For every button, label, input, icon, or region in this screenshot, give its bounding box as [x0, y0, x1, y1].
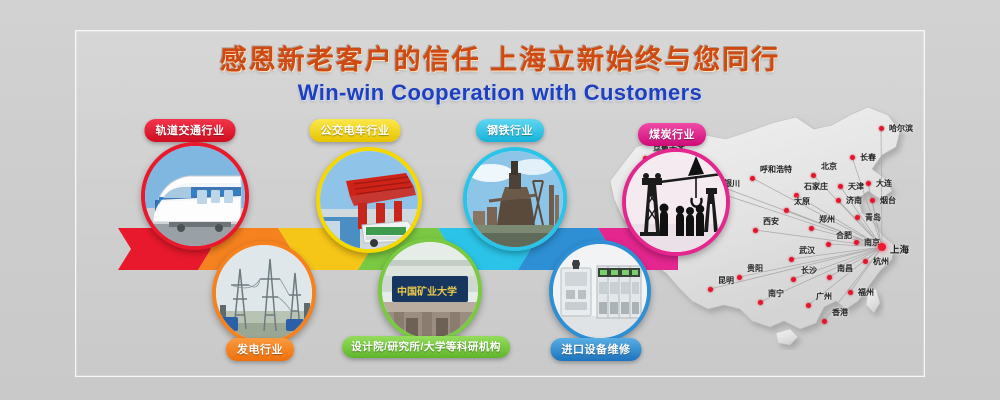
industry-image-coal[interactable] — [622, 148, 730, 256]
map-city-dot — [870, 198, 875, 203]
map-city-dot — [836, 198, 841, 203]
map-city-dot — [855, 215, 860, 220]
art-high-speed-train — [145, 146, 245, 246]
map-city-label: 济南 — [846, 195, 862, 206]
map-city-dot — [791, 277, 796, 282]
industry-image-research[interactable]: 中国矿业大学 — [378, 238, 482, 342]
industry-image-import[interactable] — [549, 240, 651, 342]
map-city-dot — [866, 181, 871, 186]
map-city-dot — [827, 275, 832, 280]
map-city-label: 杭州 — [873, 256, 889, 267]
industry-tag-rail[interactable]: 轨道交通行业 — [145, 119, 236, 142]
map-city-dot — [838, 184, 843, 189]
industry-tag-import[interactable]: 进口设备维修 — [551, 338, 642, 361]
map-city-dot — [826, 242, 831, 247]
svg-text:中国矿业大学: 中国矿业大学 — [397, 285, 457, 298]
map-city-label: 长沙 — [801, 265, 817, 276]
map-city-label: 福州 — [858, 287, 874, 298]
title-block: 感恩新老客户的信任 上海立新始终与您同行 Win-win Cooperation… — [0, 44, 1000, 106]
map-city-label: 长春 — [860, 152, 876, 163]
map-city-dot — [753, 228, 758, 233]
map-city-dot — [708, 287, 713, 292]
map-city-label: 哈尔滨 — [889, 123, 913, 134]
map-city-label: 合肥 — [836, 230, 852, 241]
page-title-chinese: 感恩新老客户的信任 上海立新始终与您同行 — [0, 44, 1000, 76]
map-city-dot — [863, 259, 868, 264]
industry-tag-steel[interactable]: 钢铁行业 — [476, 119, 544, 142]
map-city-dot — [809, 226, 814, 231]
map-city-dot — [789, 257, 794, 262]
map-city-dot — [879, 126, 884, 131]
map-city-label: 昆明 — [718, 275, 734, 286]
map-city-label: 武汉 — [799, 245, 815, 256]
map-city-label: 南宁 — [768, 288, 784, 299]
industry-image-bus[interactable] — [316, 147, 422, 253]
map-city-label: 南昌 — [837, 263, 853, 274]
map-city-dot — [878, 243, 886, 251]
map-city-dot — [784, 208, 789, 213]
map-city-label: 西安 — [763, 216, 779, 227]
map-city-label: 北京 — [821, 161, 837, 172]
industry-image-steel[interactable] — [463, 147, 567, 251]
map-city-label: 烟台 — [880, 195, 896, 206]
industry-tag-coal[interactable]: 煤炭行业 — [638, 123, 706, 146]
industry-tag-bus[interactable]: 公交电车行业 — [310, 119, 401, 142]
art-blast-furnace — [467, 151, 563, 247]
map-city-dot — [848, 290, 853, 295]
art-china-pavilion-bus — [320, 151, 418, 249]
art-university-sign: 中国矿业大学 — [382, 242, 478, 338]
map-city-label: 大连 — [876, 178, 892, 189]
map-city-label: 上海 — [890, 242, 909, 256]
map-city-label: 贵阳 — [747, 263, 763, 274]
map-city-label: 天津 — [848, 181, 864, 192]
map-city-label: 石家庄 — [804, 181, 828, 192]
promo-banner: 哈尔滨长春乌鲁木齐呼和浩特北京天津大连银川石家庄济南烟台太原青岛西安郑州南京合肥… — [0, 0, 1000, 400]
map-city-label: 太原 — [794, 196, 810, 207]
map-city-dot — [811, 173, 816, 178]
map-city-dot — [806, 303, 811, 308]
map-city-dot — [758, 300, 763, 305]
industry-image-power[interactable] — [212, 241, 316, 345]
map-city-dot — [822, 319, 827, 324]
map-city-dot — [737, 275, 742, 280]
map-city-label: 广州 — [816, 291, 832, 302]
industry-tag-power[interactable]: 发电行业 — [226, 338, 294, 361]
map-city-dot — [854, 240, 859, 245]
art-power-transmission-towers — [216, 245, 312, 341]
industry-image-rail[interactable] — [141, 142, 249, 250]
map-city-label: 香港 — [832, 307, 848, 318]
industry-tag-research[interactable]: 设计院/研究所/大学等科研机构 — [342, 336, 510, 358]
map-city-label: 青岛 — [865, 212, 881, 223]
art-coal-mine-headframe — [626, 152, 726, 252]
page-title-english: Win-win Cooperation with Customers — [0, 80, 1000, 106]
map-city-label: 呼和浩特 — [760, 164, 792, 175]
map-city-label: 郑州 — [819, 214, 835, 225]
art-electrical-switchgear — [553, 244, 647, 338]
map-city-dot — [750, 176, 755, 181]
map-city-dot — [850, 155, 855, 160]
